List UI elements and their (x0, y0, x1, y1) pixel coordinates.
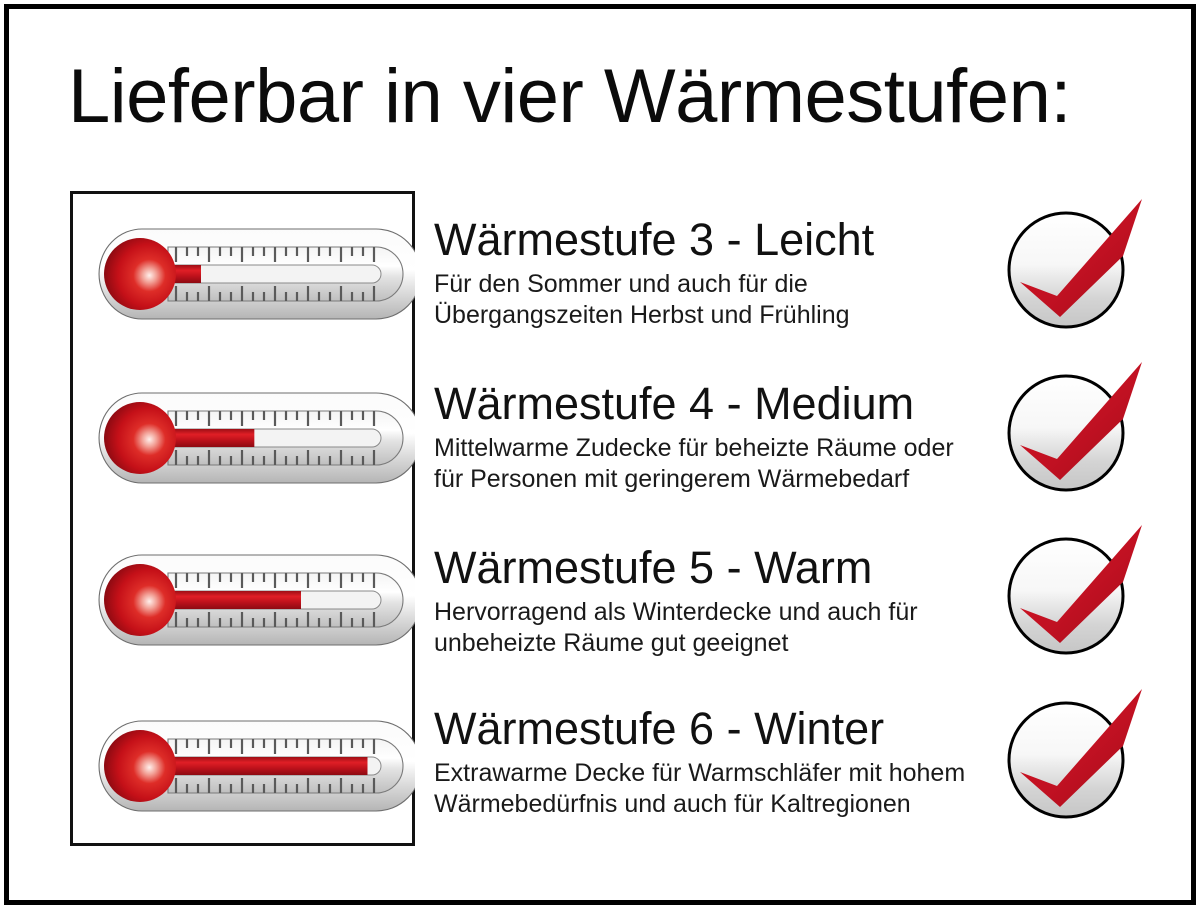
thermometer-panel (70, 191, 415, 846)
check-badge-4 (1000, 684, 1160, 834)
level-description-line: Hervorragend als Winterdecke und auch fü… (434, 597, 979, 628)
check-icon (1000, 684, 1160, 834)
level-description-line: Für den Sommer und auch für die (434, 269, 979, 300)
level-description-line: für Personen mit geringerem Wärmebedarf (434, 464, 979, 495)
level-row-1: Wärmestufe 3 - Leicht Für den Sommer und… (434, 213, 979, 331)
thermometer-3 (76, 539, 415, 659)
level-description: Für den Sommer und auch für die Übergang… (434, 269, 979, 331)
level-description-line: unbeheizte Räume gut geeignet (434, 628, 979, 659)
check-icon (1000, 520, 1160, 670)
level-title: Wärmestufe 3 - Leicht (434, 213, 979, 267)
thermometer-icon (76, 539, 415, 659)
level-row-4: Wärmestufe 6 - Winter Extrawarme Decke f… (434, 702, 979, 820)
check-badge-3 (1000, 520, 1160, 670)
level-title: Wärmestufe 5 - Warm (434, 541, 979, 595)
thermometer-icon (76, 705, 415, 825)
thermometer-2 (76, 377, 415, 497)
level-row-2: Wärmestufe 4 - Medium Mittelwarme Zudeck… (434, 377, 979, 495)
page-title: Lieferbar in vier Wärmestufen: (68, 54, 1148, 140)
level-description: Hervorragend als Winterdecke und auch fü… (434, 597, 979, 659)
thermometer-4 (76, 705, 415, 825)
check-badge-1 (1000, 194, 1160, 344)
check-badge-2 (1000, 357, 1160, 507)
check-icon (1000, 357, 1160, 507)
level-description-line: Übergangszeiten Herbst und Frühling (434, 300, 979, 331)
level-title: Wärmestufe 4 - Medium (434, 377, 979, 431)
thermometer-1 (76, 213, 415, 333)
level-description-line: Extrawarme Decke für Warmschläfer mit ho… (434, 758, 979, 789)
level-title: Wärmestufe 6 - Winter (434, 702, 979, 756)
poster-root: Lieferbar in vier Wärmestufen: (0, 0, 1200, 909)
level-description: Extrawarme Decke für Warmschläfer mit ho… (434, 758, 979, 820)
level-description-line: Wärmebedürfnis und auch für Kaltregionen (434, 789, 979, 820)
level-description-line: Mittelwarme Zudecke für beheizte Räume o… (434, 433, 979, 464)
level-description: Mittelwarme Zudecke für beheizte Räume o… (434, 433, 979, 495)
level-row-3: Wärmestufe 5 - Warm Hervorragend als Win… (434, 541, 979, 659)
check-icon (1000, 194, 1160, 344)
thermometer-icon (76, 377, 415, 497)
thermometer-icon (76, 213, 415, 333)
